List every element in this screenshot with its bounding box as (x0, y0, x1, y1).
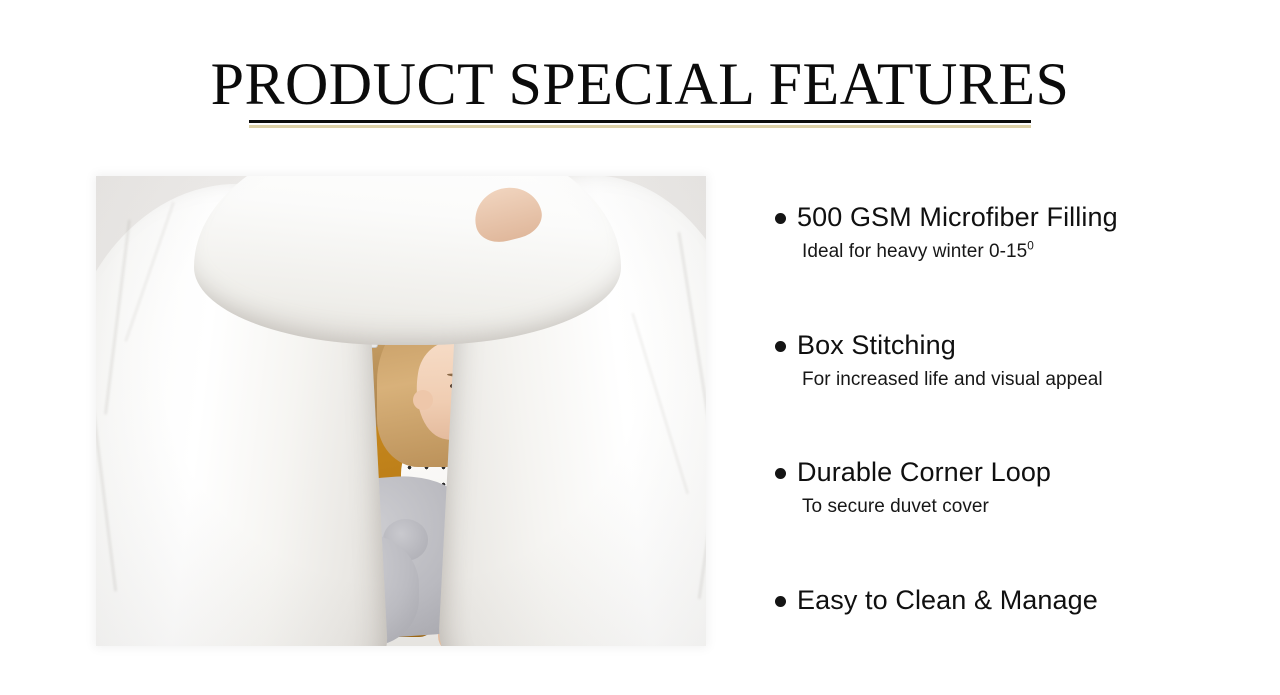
feature-heading: Durable Corner Loop (775, 455, 1245, 489)
page-title: PRODUCT SPECIAL FEATURES (0, 52, 1280, 116)
feature-subtitle-text: For increased life and visual appeal (802, 369, 1103, 390)
feature-subtitle: Ideal for heavy winter 0-150 (802, 239, 1245, 264)
feature-title: Easy to Clean & Manage (797, 583, 1098, 617)
feature-subtitle: For increased life and visual appeal (802, 367, 1245, 392)
girl-ear (413, 390, 433, 410)
title-divider (249, 120, 1031, 128)
feature-subtitle-text: Ideal for heavy winter 0-15 (802, 241, 1027, 262)
feature-title: 500 GSM Microfiber Filling (797, 200, 1118, 234)
feature-subtitle: To secure duvet cover (802, 494, 1245, 519)
duvet-fold (96, 339, 118, 592)
feature-title: Durable Corner Loop (797, 455, 1051, 489)
duvet-top-drape (194, 176, 621, 345)
product-lifestyle-photo (96, 176, 706, 646)
bullet-dot-icon (775, 596, 786, 607)
feature-heading: Easy to Clean & Manage (775, 583, 1245, 617)
feature-item: Box Stitching For increased life and vis… (775, 328, 1245, 392)
product-features-slide: PRODUCT SPECIAL FEATURES (0, 0, 1280, 695)
feature-item: 500 GSM Microfiber Filling Ideal for hea… (775, 200, 1245, 264)
title-block: PRODUCT SPECIAL FEATURES (0, 52, 1280, 116)
bullet-dot-icon (775, 468, 786, 479)
photo-stage (96, 176, 706, 646)
bullet-dot-icon (775, 213, 786, 224)
feature-item: Durable Corner Loop To secure duvet cove… (775, 455, 1245, 519)
feature-heading: Box Stitching (775, 328, 1245, 362)
feature-subtitle-superscript: 0 (1027, 240, 1034, 253)
divider-gold-rule (249, 125, 1031, 128)
feature-subtitle-text: To secure duvet cover (802, 496, 989, 517)
duvet-fold (632, 312, 689, 494)
feature-heading: 500 GSM Microfiber Filling (775, 200, 1245, 234)
bullet-dot-icon (775, 341, 786, 352)
divider-dark-rule (249, 120, 1031, 123)
feature-title: Box Stitching (797, 328, 956, 362)
duvet-fold (677, 232, 706, 459)
feature-list: 500 GSM Microfiber Filling Ideal for hea… (775, 200, 1245, 617)
feature-item: Easy to Clean & Manage (775, 583, 1245, 617)
